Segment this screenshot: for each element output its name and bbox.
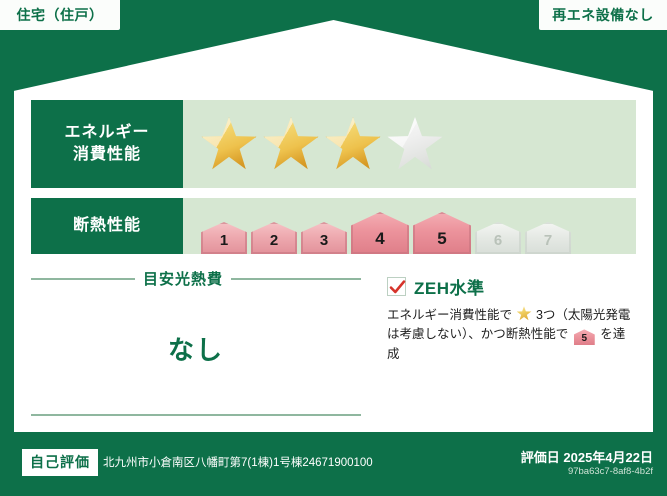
- document-id: 97ba63c7-8af8-4b2f: [568, 466, 653, 477]
- star-rating: [183, 100, 636, 188]
- insulation-grade-value: 2: [270, 232, 278, 254]
- zeh-desc-part1: エネルギー消費性能で: [387, 308, 512, 322]
- insulation-grade-scale: 1234567: [201, 198, 575, 254]
- insulation-grade-value: 7: [544, 232, 552, 254]
- utility-cost-heading: 目安光熱費: [31, 268, 361, 289]
- self-evaluation-badge: 自己評価: [22, 449, 98, 476]
- label-subtitle: 建築物省エネ法に基づく: [0, 38, 667, 52]
- zeh-section: ZEH水準 エネルギー消費性能で 3つ（太陽光発電は考慮しない）、かつ断熱性能で…: [361, 268, 636, 416]
- insulation-grade-7: 7: [525, 222, 571, 254]
- star-icon-filled: [263, 116, 319, 172]
- rule-left: [31, 278, 135, 280]
- insulation-grade-badge-inline: 5: [574, 329, 595, 345]
- renewable-equipment-tag: 再エネ設備なし: [539, 0, 667, 30]
- star-facet: [387, 116, 443, 172]
- insulation-grade-value: 5: [437, 229, 446, 254]
- energy-label-line1: エネルギー: [64, 122, 149, 144]
- check-mark-icon: [389, 279, 406, 296]
- star-icon: [517, 306, 532, 321]
- star-icon-empty: [387, 116, 443, 172]
- insulation-grade-5: 5: [413, 212, 471, 254]
- insulation-performance-row: 断熱性能 1234567: [31, 198, 636, 254]
- insulation-grade-value: 1: [220, 232, 228, 254]
- insulation-grade-value: 4: [375, 229, 384, 254]
- utility-cost-value: なし: [31, 289, 361, 414]
- evaluation-date: 評価日 2025年4月22日: [521, 447, 653, 466]
- zeh-heading: ZEH水準: [387, 274, 636, 299]
- insulation-performance-label-cell: 断熱性能: [31, 198, 183, 254]
- rule-right: [231, 278, 361, 280]
- star-icon-filled: [201, 116, 257, 172]
- utility-cost-section: 目安光熱費 なし: [31, 268, 361, 416]
- energy-performance-row: エネルギー 消費性能: [31, 100, 636, 188]
- energy-performance-label: 住宅（住戸） 再エネ設備なし 建築物省エネ法に基づく 省エネ性能ラベル エネルギ…: [0, 0, 667, 496]
- label-title-block: 建築物省エネ法に基づく 省エネ性能ラベル: [0, 38, 667, 83]
- insulation-grade-value: 3: [320, 232, 328, 254]
- star-facet: [201, 116, 257, 172]
- label-lower-section: 目安光熱費 なし ZEH水準 エネルギー消費性能で: [31, 268, 636, 416]
- insulation-label-line1: 断熱性能: [73, 215, 141, 237]
- star-facet: [263, 116, 319, 172]
- insulation-grade-value: 6: [494, 232, 502, 254]
- zeh-checkbox[interactable]: [387, 277, 406, 296]
- zeh-description: エネルギー消費性能で 3つ（太陽光発電は考慮しない）、かつ断熱性能で 5 を達成: [387, 306, 636, 365]
- energy-performance-label-cell: エネルギー 消費性能: [31, 100, 183, 188]
- insulation-grade-4: 4: [351, 212, 409, 254]
- star-facet: [325, 116, 381, 172]
- utility-cost-bottom-rule: [31, 414, 361, 416]
- insulation-grade-2: 2: [251, 222, 297, 254]
- property-address: 北九州市小倉南区八幡町第7(1棟)1号棟24671900100: [103, 454, 373, 470]
- utility-cost-title: 目安光熱費: [143, 268, 223, 289]
- star-icon-filled: [325, 116, 381, 172]
- building-type-tag: 住宅（住戸）: [0, 0, 120, 30]
- energy-label-line2: 消費性能: [73, 144, 141, 166]
- label-content: エネルギー 消費性能 断熱性能 1234567 目安光熱費 なし: [31, 100, 636, 425]
- insulation-grade-1: 1: [201, 222, 247, 254]
- label-footer: 自己評価 北九州市小倉南区八幡町第7(1棟)1号棟24671900100 評価日…: [0, 432, 667, 496]
- zeh-title: ZEH水準: [414, 274, 485, 299]
- insulation-grade-3: 3: [301, 222, 347, 254]
- insulation-grade-6: 6: [475, 222, 521, 254]
- label-title: 省エネ性能ラベル: [0, 56, 667, 82]
